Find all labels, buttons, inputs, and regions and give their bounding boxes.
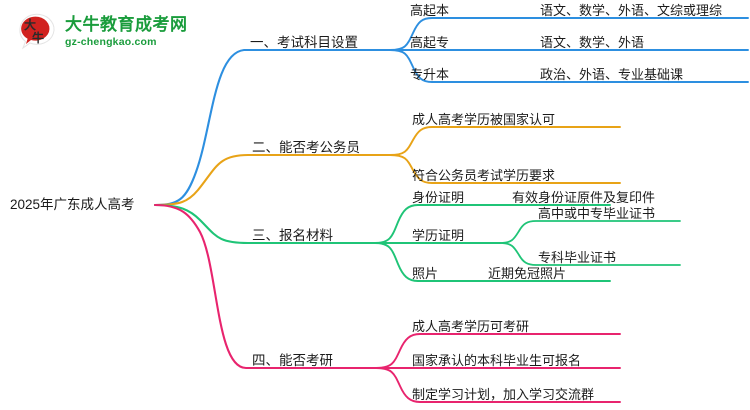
mindmap-canvas: 大 牛 大牛教育成考网 gz-chengkao.com <box>0 0 750 410</box>
node-b3-child-1-leaf-1[interactable]: 有效身份证原件及复印件 <box>512 191 655 204</box>
node-branch-3[interactable]: 三、报名材料 <box>252 229 333 243</box>
node-b2-leaf-2[interactable]: 符合公务员考试学历要求 <box>412 169 555 182</box>
node-b3-child-1[interactable]: 身份证明 <box>412 191 464 204</box>
node-b3-child-2-leaf-1[interactable]: 高中或中专毕业证书 <box>538 207 655 220</box>
node-b1-child-2-leaf-1[interactable]: 语文、数学、外语 <box>540 36 644 49</box>
node-b3-child-2[interactable]: 学历证明 <box>412 229 464 242</box>
node-branch-4[interactable]: 四、能否考研 <box>252 354 333 368</box>
branch-4-lines <box>155 205 620 402</box>
node-b1-child-3-leaf-1[interactable]: 政治、外语、专业基础课 <box>540 68 683 81</box>
node-b3-child-2-leaf-2[interactable]: 专科毕业证书 <box>538 251 616 264</box>
node-b3-child-3-leaf-1[interactable]: 近期免冠照片 <box>488 267 566 280</box>
node-root[interactable]: 2025年广东成人高考 <box>10 198 135 212</box>
node-branch-1[interactable]: 一、考试科目设置 <box>250 36 358 50</box>
node-b3-child-3[interactable]: 照片 <box>412 267 438 280</box>
node-b4-leaf-1[interactable]: 成人高考学历可考研 <box>412 320 529 333</box>
node-b1-child-1-leaf-1[interactable]: 语文、数学、外语、文综或理综 <box>540 4 722 17</box>
node-b1-child-3[interactable]: 专升本 <box>410 68 449 81</box>
node-b4-leaf-2[interactable]: 国家承认的本科毕业生可报名 <box>412 354 581 367</box>
node-b2-leaf-1[interactable]: 成人高考学历被国家认可 <box>412 113 555 126</box>
node-b1-child-2[interactable]: 高起专 <box>410 36 449 49</box>
node-branch-2[interactable]: 二、能否考公务员 <box>252 141 360 155</box>
node-b4-leaf-3[interactable]: 制定学习计划，加入学习交流群 <box>412 388 594 401</box>
node-b1-child-1[interactable]: 高起本 <box>410 4 449 17</box>
